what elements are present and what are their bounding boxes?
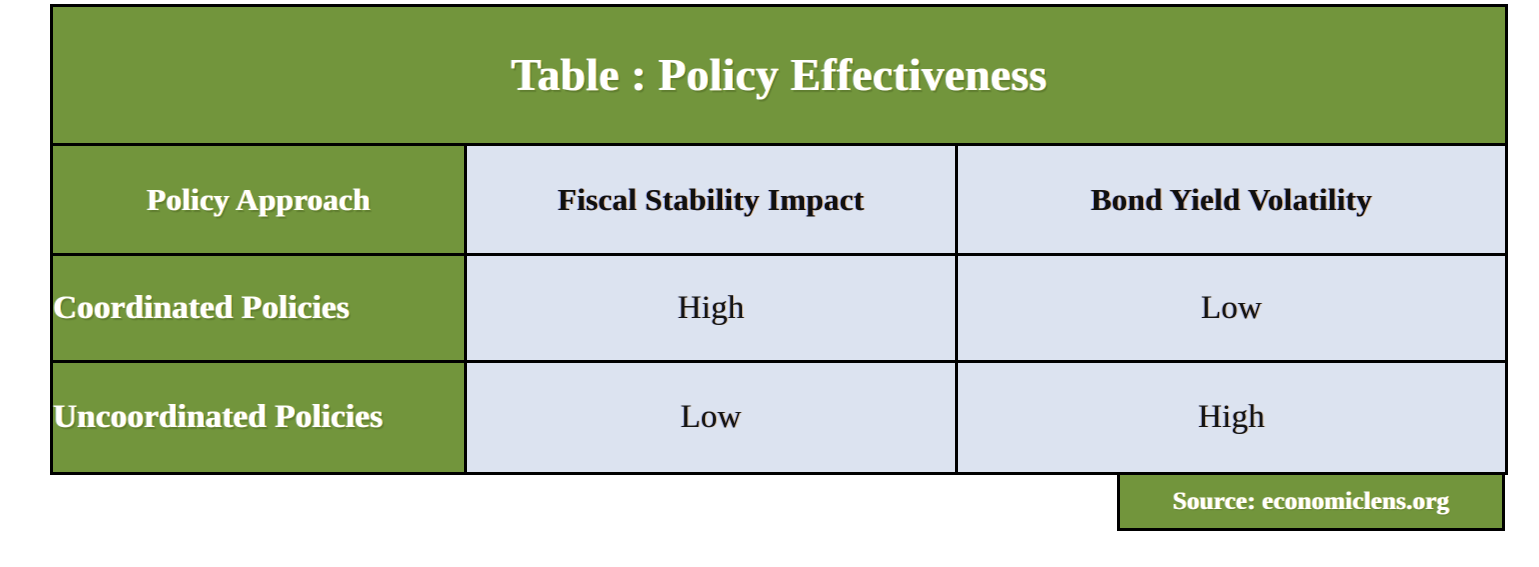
policy-effectiveness-table-container: Table : Policy Effectiveness Policy Appr… bbox=[50, 4, 1505, 475]
column-header-fiscal-stability-impact: Fiscal Stability Impact bbox=[466, 145, 957, 255]
column-header-bond-yield-volatility-label: Bond Yield Volatility bbox=[1091, 182, 1372, 217]
column-header-policy-approach-label: Policy Approach bbox=[147, 182, 371, 217]
source-badge: Source: economiclens.org bbox=[1117, 472, 1505, 531]
cell-coordinated-bond-yield-volatility-value: Low bbox=[1201, 290, 1262, 326]
table-row: Uncoordinated Policies Low High bbox=[52, 362, 1507, 474]
row-header-uncoordinated-policies-label: Uncoordinated Policies bbox=[53, 399, 464, 436]
table-row: Coordinated Policies High Low bbox=[52, 255, 1507, 362]
column-header-fiscal-stability-impact-label: Fiscal Stability Impact bbox=[558, 182, 865, 217]
cell-uncoordinated-bond-yield-volatility-value: High bbox=[1198, 399, 1265, 435]
cell-coordinated-fiscal-stability-impact-value: High bbox=[678, 290, 745, 326]
table-title: Table : Policy Effectiveness bbox=[53, 49, 1505, 101]
page-root: Table : Policy Effectiveness Policy Appr… bbox=[0, 0, 1539, 567]
row-header-coordinated-policies: Coordinated Policies bbox=[52, 255, 466, 362]
row-header-uncoordinated-policies: Uncoordinated Policies bbox=[52, 362, 466, 474]
cell-uncoordinated-fiscal-stability-impact: Low bbox=[466, 362, 957, 474]
column-header-policy-approach: Policy Approach bbox=[52, 145, 466, 255]
row-header-coordinated-policies-label: Coordinated Policies bbox=[53, 290, 464, 327]
cell-coordinated-fiscal-stability-impact: High bbox=[466, 255, 957, 362]
source-label: Source: economiclens.org bbox=[1173, 488, 1450, 516]
cell-uncoordinated-fiscal-stability-impact-value: Low bbox=[680, 399, 741, 435]
column-header-bond-yield-volatility: Bond Yield Volatility bbox=[957, 145, 1507, 255]
cell-coordinated-bond-yield-volatility: Low bbox=[957, 255, 1507, 362]
cell-uncoordinated-bond-yield-volatility: High bbox=[957, 362, 1507, 474]
policy-effectiveness-table: Table : Policy Effectiveness Policy Appr… bbox=[50, 4, 1508, 475]
table-header-row: Policy Approach Fiscal Stability Impact … bbox=[52, 145, 1507, 255]
table-title-row: Table : Policy Effectiveness bbox=[52, 6, 1507, 145]
table-title-cell: Table : Policy Effectiveness bbox=[52, 6, 1507, 145]
